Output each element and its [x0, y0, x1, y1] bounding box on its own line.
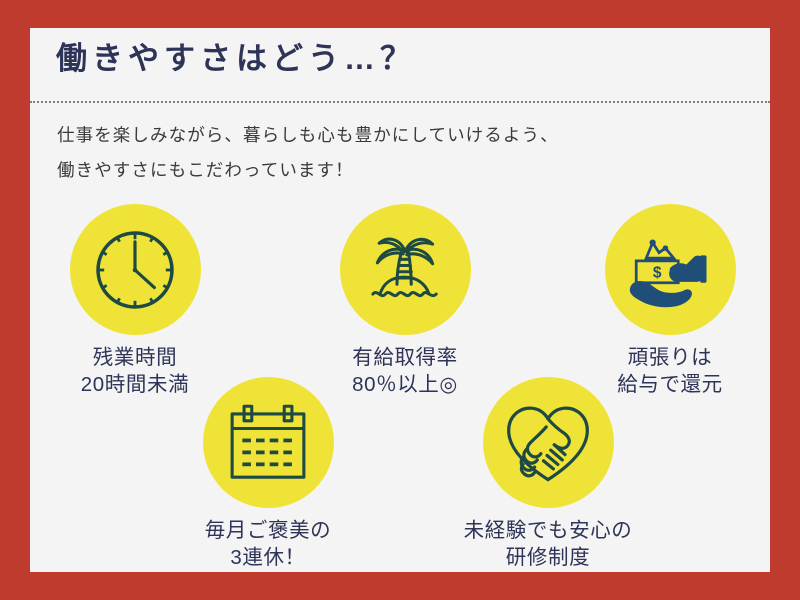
- svg-text:$: $: [653, 264, 662, 281]
- caption-line-1: 未経験でも安心の: [448, 517, 648, 544]
- benefit-item-paid-leave: 有給取得率 80％以上◎: [305, 204, 505, 398]
- benefit-caption: 未経験でも安心の 研修制度: [448, 517, 648, 571]
- benefit-item-monthly-holiday: 毎月ご褒美の 3連休！: [168, 377, 368, 571]
- benefit-item-training: 未経験でも安心の 研修制度: [448, 377, 648, 571]
- caption-line-1: 有給取得率: [305, 344, 505, 371]
- caption-line-1: 頑張りは: [570, 344, 770, 371]
- caption-line-1: 毎月ご褒美の: [168, 517, 368, 544]
- title-divider: [30, 101, 770, 103]
- icon-circle: [203, 377, 334, 508]
- slide-frame: 働きやすさはどう…？ 仕事を楽しみながら、暮らしも心も豊かにしていけるよう、 働…: [0, 0, 800, 600]
- palm-tree-island-icon: [360, 229, 450, 311]
- clock-icon: [91, 226, 179, 314]
- benefit-item-salary-reward: $ 頑張りは 給与で還元: [570, 204, 770, 398]
- caption-line-2: 3連休！: [168, 544, 368, 571]
- icon-circle: $: [605, 204, 736, 335]
- benefit-item-overtime: 残業時間 20時間未満: [35, 204, 235, 398]
- benefit-caption: 毎月ご褒美の 3連休！: [168, 517, 368, 571]
- slide-content-area: 働きやすさはどう…？ 仕事を楽しみながら、暮らしも心も豊かにしていけるよう、 働…: [30, 28, 770, 572]
- caption-line-2: 研修制度: [448, 544, 648, 571]
- handshake-heart-icon: [503, 401, 593, 485]
- calendar-icon: [225, 402, 311, 484]
- money-in-hand-icon: $: [624, 228, 716, 312]
- caption-line-1: 残業時間: [35, 344, 235, 371]
- lead-line-1: 仕事を楽しみながら、暮らしも心も豊かにしていけるよう、: [57, 118, 747, 153]
- icon-circle: [70, 204, 201, 335]
- page-title: 働きやすさはどう…？: [56, 40, 416, 79]
- icon-circle: [483, 377, 614, 508]
- lead-line-2: 働きやすさにもこだわっています！: [57, 153, 747, 188]
- lead-paragraph: 仕事を楽しみながら、暮らしも心も豊かにしていけるよう、 働きやすさにもこだわって…: [57, 118, 747, 188]
- icon-circle: [340, 204, 471, 335]
